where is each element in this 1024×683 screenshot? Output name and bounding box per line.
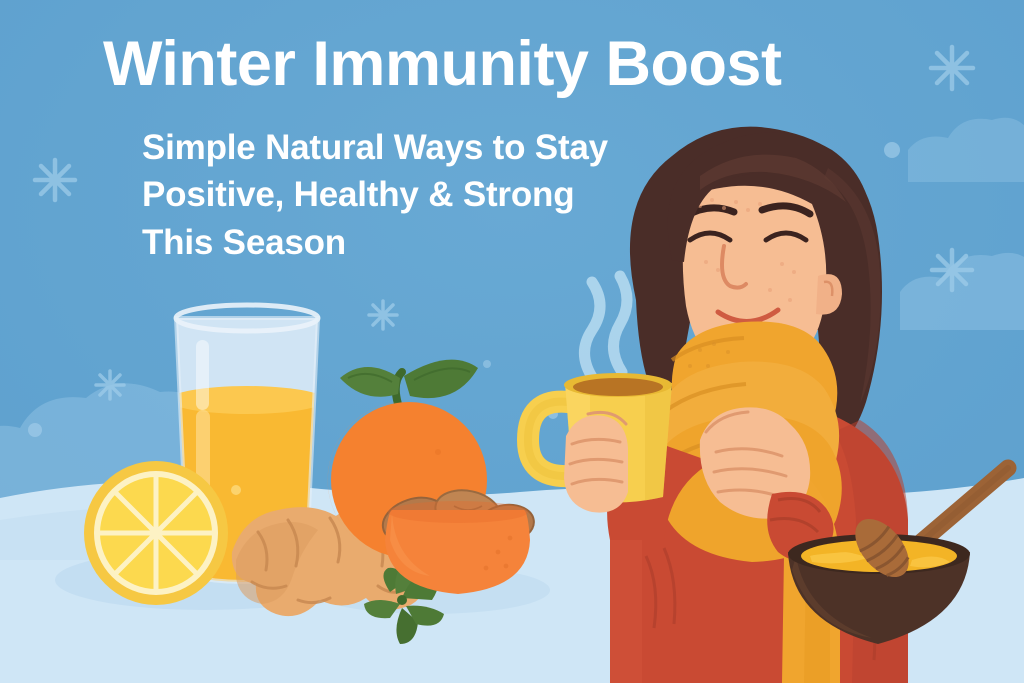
snowflake-top-right	[931, 47, 973, 89]
hand-on-mug	[564, 412, 628, 512]
lemon-slice	[84, 461, 228, 605]
snowflake-center	[369, 301, 397, 329]
scene-illustration	[0, 0, 1024, 683]
snowflake-top-left	[35, 160, 75, 200]
poster-canvas: Winter Immunity Boost Simple Natural Way…	[0, 0, 1024, 683]
snowflake-mid-right	[932, 250, 972, 290]
snowflake-lower-left	[96, 371, 124, 399]
snow-dot-right	[884, 142, 900, 158]
snow-dot-upper	[483, 360, 491, 368]
snow-dot-left	[28, 423, 42, 437]
